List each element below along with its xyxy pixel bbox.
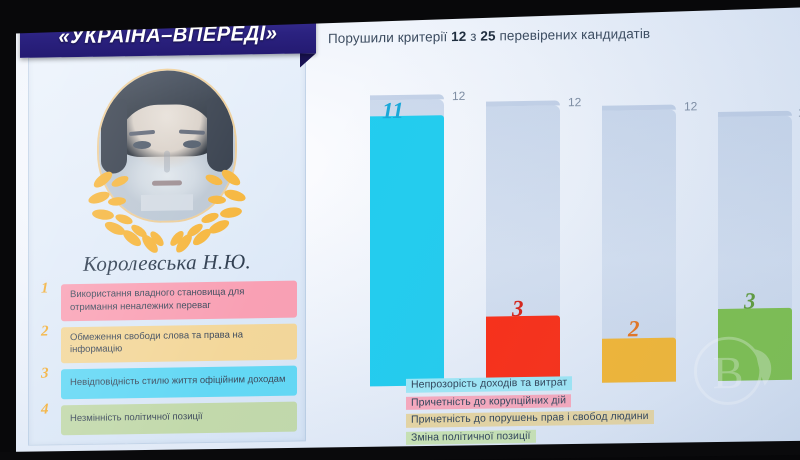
bar-value-label-1: 11 — [382, 98, 404, 124]
slide-surface: Королевська Н.Ю. 1 Використання владного… — [14, 0, 800, 460]
legend-item-1: Непрозорість доходів та витрат — [406, 376, 572, 392]
chart-title-prefix: Порушили критерії — [328, 29, 451, 46]
bar-total-label-1: 12 — [452, 89, 465, 103]
criteria-number: 3 — [41, 366, 49, 383]
criteria-number: 2 — [41, 323, 49, 340]
legend-item-2: Причетність до корупційних дій — [406, 394, 571, 410]
banner-fold-decoration — [300, 53, 316, 67]
criteria-list: 1 Використання владного становища для от… — [39, 281, 297, 442]
laurel-wreath-icon — [79, 155, 255, 254]
criteria-text: Незмінність політичної позиції — [61, 402, 297, 436]
legend-item-4: Зміна політичної позиції — [406, 429, 536, 445]
list-item: 4 Незмінність політичної позиції — [39, 402, 297, 436]
chart-title-suffix: перевірених кандидатів — [496, 26, 651, 43]
chart-title: Порушили критерії 12 з 25 перевірених ка… — [328, 26, 650, 46]
chart-legend: Непрозорість доходів та витрат Причетніс… — [406, 371, 736, 446]
criteria-number: 1 — [41, 280, 49, 297]
candidate-card: Королевська Н.Ю. 1 Використання владного… — [28, 51, 306, 445]
bar-fill-1 — [370, 115, 444, 386]
candidate-portrait — [79, 69, 255, 250]
bar-value-label-3: 2 — [628, 316, 640, 342]
projected-slide-photo: Королевська Н.Ю. 1 Використання владного… — [0, 0, 800, 460]
list-item: 3 Невідповідність стилю життя офіційним … — [39, 366, 297, 400]
legend-item-3: Причетність до порушень прав і свобод лю… — [406, 410, 654, 427]
criteria-text: Невідповідність стилю життя офіційним до… — [61, 366, 297, 400]
chart-title-mid: з — [466, 29, 480, 44]
criteria-text: Обмеження свободи слова та права на інфо… — [61, 323, 297, 363]
chart-title-checked-count: 25 — [480, 28, 495, 43]
criteria-number: 4 — [41, 402, 49, 419]
chart-title-violated-count: 12 — [451, 29, 466, 44]
bar-total-label-3: 12 — [684, 99, 697, 113]
list-item: 2 Обмеження свободи слова та права на ін… — [39, 323, 297, 364]
criteria-text: Використання владного становища для отри… — [61, 281, 297, 321]
list-item: 1 Використання владного становища для от… — [39, 281, 297, 322]
candidate-name: Королевська Н.Ю. — [29, 248, 305, 277]
bar-value-label-4: 3 — [744, 288, 756, 314]
projector-bezel-left — [0, 0, 16, 460]
bar-total-label-2: 12 — [568, 95, 581, 109]
chart-panel: Порушили критерії 12 з 25 перевірених ка… — [314, 10, 794, 452]
bar-value-label-2: 3 — [512, 296, 524, 322]
chart-bars: 11 12 3 12 2 12 — [360, 72, 794, 387]
